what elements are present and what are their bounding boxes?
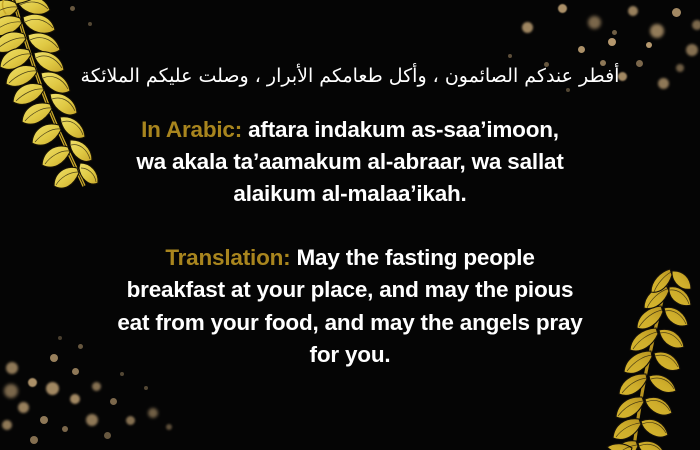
translation-block: Translation: May the fasting people brea…: [116, 242, 584, 372]
transliteration-label: In Arabic:: [141, 117, 242, 142]
arabic-dua-text: أفطر عندكم الصائمون ، وأكل طعامكم الأبرا…: [40, 63, 660, 91]
translation-label: Translation:: [165, 245, 290, 270]
card-content: أفطر عندكم الصائمون ، وأكل طعامكم الأبرا…: [0, 0, 700, 450]
transliteration-block: In Arabic: aftara indakum as-saa’imoon, …: [135, 114, 565, 211]
dua-card: أفطر عندكم الصائمون ، وأكل طعامكم الأبرا…: [0, 0, 700, 450]
